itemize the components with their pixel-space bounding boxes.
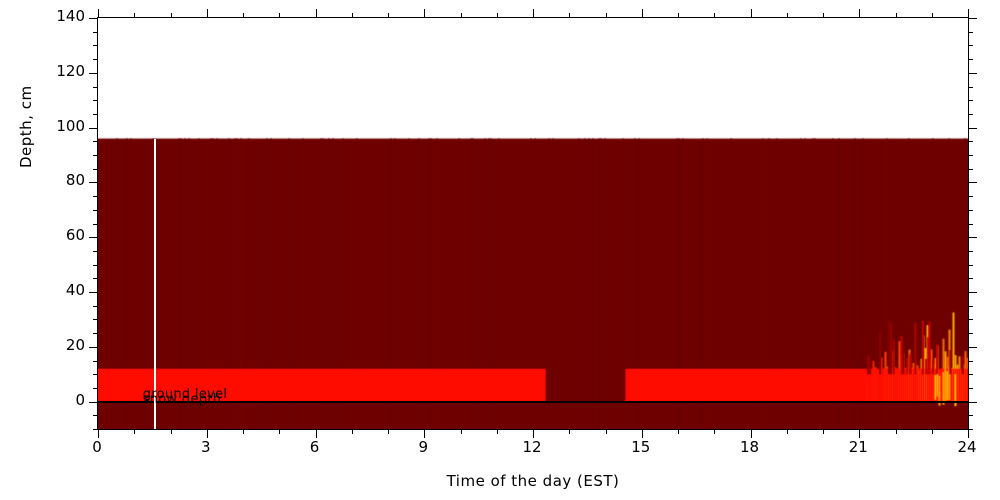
x-axis-minor-tick [134,429,135,434]
y-axis-major-tick [968,182,977,183]
x-axis-major-tick [98,9,99,18]
y-axis-tick-label: 100 [45,119,85,134]
y-axis-minor-tick [93,32,98,33]
x-axis-minor-tick [932,13,933,18]
x-axis-minor-tick [896,429,897,434]
x-axis-minor-tick [497,429,498,434]
y-axis-minor-tick [93,141,98,142]
y-axis-minor-tick [93,114,98,115]
y-axis-major-tick [968,347,977,348]
y-axis-tick-label: 80 [45,173,85,188]
y-axis-minor-tick [93,374,98,375]
x-axis-minor-tick [606,13,607,18]
y-axis-minor-tick [93,278,98,279]
y-axis-major-tick [968,18,977,19]
y-axis-minor-tick [93,87,98,88]
y-axis-major-tick [89,347,98,348]
ground-level-line [98,401,968,403]
y-axis-major-tick [89,18,98,19]
x-axis-minor-tick [823,13,824,18]
y-axis-minor-tick [968,319,973,320]
y-axis-major-tick [89,292,98,293]
x-axis-major-tick [859,9,860,18]
y-axis-tick-label: 120 [45,64,85,79]
x-axis-minor-tick [714,13,715,18]
x-axis-major-tick [533,429,534,438]
x-axis-tick-label: 21 [838,440,878,455]
x-axis-minor-tick [461,13,462,18]
y-axis-minor-tick [93,196,98,197]
y-axis-minor-tick [93,388,98,389]
x-axis-minor-tick [171,13,172,18]
plot-frame: ground level snow depth [97,17,969,430]
y-axis-minor-tick [968,155,973,156]
x-axis-major-tick [642,9,643,18]
y-axis-minor-tick [968,59,973,60]
x-axis-tick-label: 15 [621,440,661,455]
x-axis-minor-tick [279,13,280,18]
x-axis-major-tick [98,429,99,438]
y-axis-minor-tick [968,141,973,142]
x-axis-minor-tick [569,429,570,434]
y-axis-major-tick [89,73,98,74]
y-axis-major-tick [89,128,98,129]
y-axis-minor-tick [968,100,973,101]
x-axis-minor-tick [352,429,353,434]
x-axis-major-tick [968,429,969,438]
y-axis-minor-tick [93,265,98,266]
x-axis-minor-tick [461,429,462,434]
y-axis-tick-label: 140 [45,9,85,24]
x-axis-tick-label: 24 [947,440,987,455]
y-axis-major-tick [968,237,977,238]
y-axis-minor-tick [968,333,973,334]
y-axis-minor-tick [968,415,973,416]
x-axis-tick-label: 0 [77,440,117,455]
y-axis-minor-tick [968,361,973,362]
x-axis-major-tick [751,429,752,438]
y-axis-minor-tick [93,59,98,60]
x-axis-major-tick [424,429,425,438]
y-axis-minor-tick [93,361,98,362]
x-axis-minor-tick [787,429,788,434]
y-axis-tick-label: 0 [45,393,85,408]
y-axis-minor-tick [968,224,973,225]
x-axis-minor-tick [896,13,897,18]
y-axis-tick-label: 20 [45,338,85,353]
y-axis-minor-tick [93,169,98,170]
x-axis-minor-tick [932,429,933,434]
y-axis-minor-tick [93,306,98,307]
x-axis-tick-label: 12 [512,440,552,455]
temperature-profile-figure: Temperature Profile Jun 10, 2018 (201816… [0,0,1000,500]
y-axis-minor-tick [93,210,98,211]
x-axis-major-tick [533,9,534,18]
heatmap-data-area: ground level snow depth [98,18,968,429]
x-axis-major-tick [968,9,969,18]
y-axis-minor-tick [93,333,98,334]
y-axis-minor-tick [968,374,973,375]
x-axis-major-tick [859,429,860,438]
y-axis-minor-tick [93,100,98,101]
x-axis-minor-tick [606,429,607,434]
time-marker-line [154,139,156,429]
x-axis-major-tick [207,429,208,438]
x-axis-minor-tick [678,429,679,434]
x-axis-title: Time of the day (EST) [97,472,969,490]
y-axis-major-tick [968,402,977,403]
x-axis-tick-label: 18 [730,440,770,455]
annotation-snow-depth: snow depth [143,392,222,407]
x-axis-major-tick [642,429,643,438]
y-axis-minor-tick [968,251,973,252]
x-axis-minor-tick [497,13,498,18]
x-axis-minor-tick [134,13,135,18]
y-axis-minor-tick [968,210,973,211]
y-axis-minor-tick [968,265,973,266]
y-axis-major-tick [968,292,977,293]
y-axis-minor-tick [968,114,973,115]
y-axis-tick-label: 60 [45,228,85,243]
x-axis-major-tick [316,429,317,438]
y-axis-minor-tick [968,87,973,88]
y-axis-minor-tick [968,388,973,389]
y-axis-major-tick [968,128,977,129]
y-axis-major-tick [89,237,98,238]
y-axis-minor-tick [93,224,98,225]
x-axis-minor-tick [171,429,172,434]
x-axis-major-tick [424,9,425,18]
y-axis-minor-tick [93,45,98,46]
x-axis-minor-tick [243,13,244,18]
y-axis-minor-tick [968,306,973,307]
y-axis-minor-tick [968,32,973,33]
y-axis-minor-tick [93,319,98,320]
x-axis-minor-tick [388,429,389,434]
y-axis-major-tick [968,73,977,74]
x-axis-minor-tick [279,429,280,434]
y-axis-minor-tick [968,169,973,170]
heatmap-canvas [98,18,968,429]
x-axis-minor-tick [787,13,788,18]
x-axis-minor-tick [714,429,715,434]
y-axis-minor-tick [93,415,98,416]
x-axis-tick-label: 9 [403,440,443,455]
x-axis-major-tick [316,9,317,18]
y-axis-tick-label: 40 [45,283,85,298]
x-axis-minor-tick [352,13,353,18]
y-axis-minor-tick [93,155,98,156]
y-axis-major-tick [89,182,98,183]
y-axis-major-tick [89,402,98,403]
x-axis-minor-tick [243,429,244,434]
x-axis-minor-tick [678,13,679,18]
x-axis-minor-tick [823,429,824,434]
y-axis-minor-tick [968,45,973,46]
x-axis-tick-label: 6 [295,440,335,455]
x-axis-major-tick [207,9,208,18]
y-axis-title: Depth, cm [18,148,35,168]
y-axis-minor-tick [968,196,973,197]
x-axis-minor-tick [388,13,389,18]
y-axis-minor-tick [968,278,973,279]
x-axis-major-tick [751,9,752,18]
y-axis-minor-tick [93,251,98,252]
x-axis-minor-tick [569,13,570,18]
x-axis-tick-label: 3 [186,440,226,455]
